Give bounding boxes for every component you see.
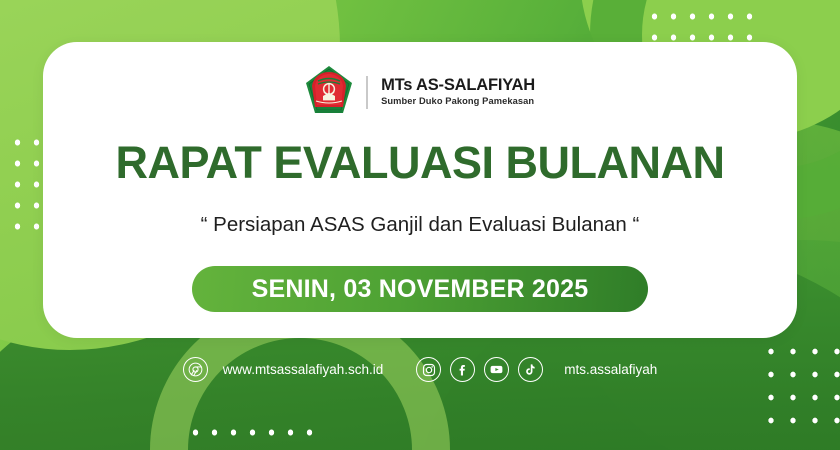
event-date-pill: SENIN, 03 NOVEMBER 2025: [192, 266, 648, 312]
chrome-browser-icon: [183, 357, 208, 382]
tiktok-icon[interactable]: [518, 357, 543, 382]
logo-lockup: MTs AS-SALAFIYAH Sumber Duko Pakong Pame…: [305, 66, 535, 118]
event-subtitle: “ Persiapan ASAS Ganjil dan Evaluasi Bul…: [201, 213, 640, 237]
event-banner: MTs AS-SALAFIYAH Sumber Duko Pakong Pame…: [0, 0, 840, 450]
website-url[interactable]: www.mtsassalafiyah.sch.id: [223, 362, 384, 377]
content-card: MTs AS-SALAFIYAH Sumber Duko Pakong Pame…: [43, 42, 797, 338]
social-links: [416, 357, 543, 382]
school-name: MTs AS-SALAFIYAH: [381, 76, 535, 95]
instagram-icon[interactable]: [416, 357, 441, 382]
footer-bar: www.mtsassalafiyah.sch.id: [0, 357, 840, 382]
dot-grid-bottom-right: [760, 340, 840, 440]
event-title: RAPAT EVALUASI BULANAN: [116, 140, 725, 185]
school-tagline: Sumber Duko Pakong Pamekasan: [381, 95, 535, 107]
social-handle[interactable]: mts.assalafiyah: [564, 362, 657, 377]
facebook-icon[interactable]: [450, 357, 475, 382]
youtube-icon[interactable]: [484, 357, 509, 382]
logo-text-block: MTs AS-SALAFIYAH Sumber Duko Pakong Pame…: [381, 76, 535, 107]
school-crest-icon: [305, 65, 353, 120]
dot-grid-bottom-left: [186, 422, 320, 450]
logo-divider: [366, 76, 368, 109]
